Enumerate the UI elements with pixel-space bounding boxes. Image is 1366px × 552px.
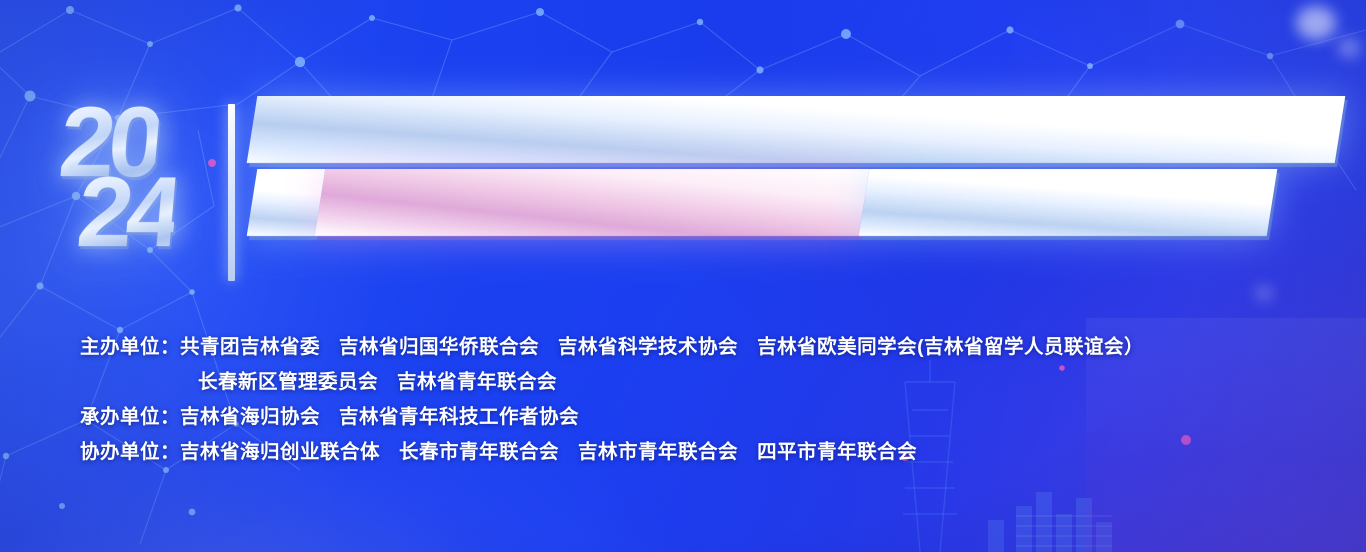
logo-divider-bar <box>228 104 235 281</box>
host-label: 主办单位： <box>80 330 180 365</box>
poster-headline: 吉林省留学归国青年创新创业交流会 暨青年科学家百城行走进长春活动 <box>252 96 1352 236</box>
organizer-item: 吉林省海归协会 <box>180 400 320 435</box>
headline-line-2-highlight: 青年科学家百城行 <box>315 169 870 236</box>
co-organizer-item: 长春市青年联合会 <box>399 435 559 470</box>
headline-line-2: 暨青年科学家百城行走进长春活动 <box>252 169 1352 236</box>
host-item: 吉林省青年联合会 <box>397 365 557 400</box>
co-organizer-item: 吉林省海归创业联合体 <box>180 435 380 470</box>
organizer-block: 主办单位：共青团吉林省委吉林省归国华侨联合会吉林省科学技术协会吉林省欧美同学会(… <box>80 330 1144 470</box>
organizer-label: 承办单位： <box>80 400 180 435</box>
host-item: 吉林省归国华侨联合会 <box>339 330 539 365</box>
headline-line-2-prefix: 暨 <box>247 169 326 236</box>
host-item: 吉林省欧美同学会(吉林省留学人员联谊会） <box>757 330 1144 365</box>
host-item: 长春新区管理委员会 <box>198 365 378 400</box>
organizer-item: 吉林省青年科技工作者协会 <box>339 400 579 435</box>
headline-line-1-text: 吉林省留学归国青年创新创业交流会 <box>247 96 1346 163</box>
headline-line-2-suffix: 走进长春活动 <box>859 169 1278 236</box>
host-row-1: 主办单位：共青团吉林省委吉林省归国华侨联合会吉林省科学技术协会吉林省欧美同学会(… <box>80 330 1144 365</box>
co-organizer-row: 协办单位：吉林省海归创业联合体长春市青年联合会吉林市青年联合会四平市青年联合会 <box>80 435 1144 470</box>
host-item: 吉林省科学技术协会 <box>558 330 738 365</box>
year-logo-bottom: 24 <box>74 162 180 262</box>
year-logo: 20 24 <box>58 92 233 282</box>
co-organizer-item: 吉林市青年联合会 <box>578 435 738 470</box>
co-organizer-label: 协办单位： <box>80 435 180 470</box>
co-organizer-item: 四平市青年联合会 <box>757 435 917 470</box>
host-row-2: 长春新区管理委员会吉林省青年联合会 <box>80 365 1144 400</box>
host-item: 共青团吉林省委 <box>180 330 320 365</box>
event-poster: 20 24 吉林省留学归国青年创新创业交流会 暨青年科学家百城行走进长春活动 主… <box>0 0 1366 552</box>
organizer-row: 承办单位：吉林省海归协会吉林省青年科技工作者协会 <box>80 400 1144 435</box>
headline-line-1: 吉林省留学归国青年创新创业交流会 <box>252 96 1352 163</box>
